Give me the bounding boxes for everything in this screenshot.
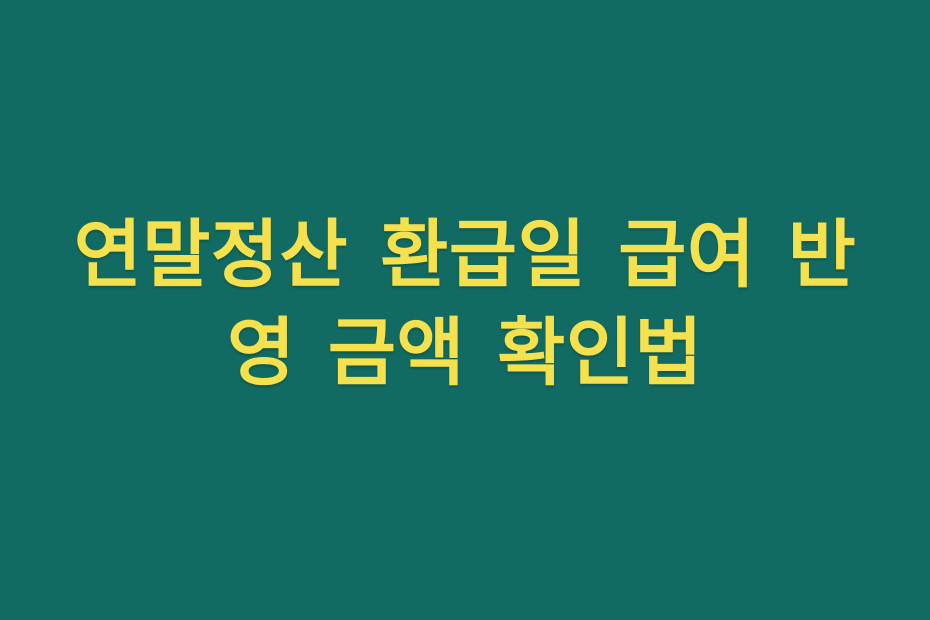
title-line-1: 연말정산 환급일 급여 반 <box>65 207 865 305</box>
title-line-2: 영 금액 확인법 <box>65 305 865 403</box>
page-title: 연말정산 환급일 급여 반 영 금액 확인법 <box>65 207 865 402</box>
banner-canvas: 연말정산 환급일 급여 반 영 금액 확인법 <box>0 0 930 620</box>
